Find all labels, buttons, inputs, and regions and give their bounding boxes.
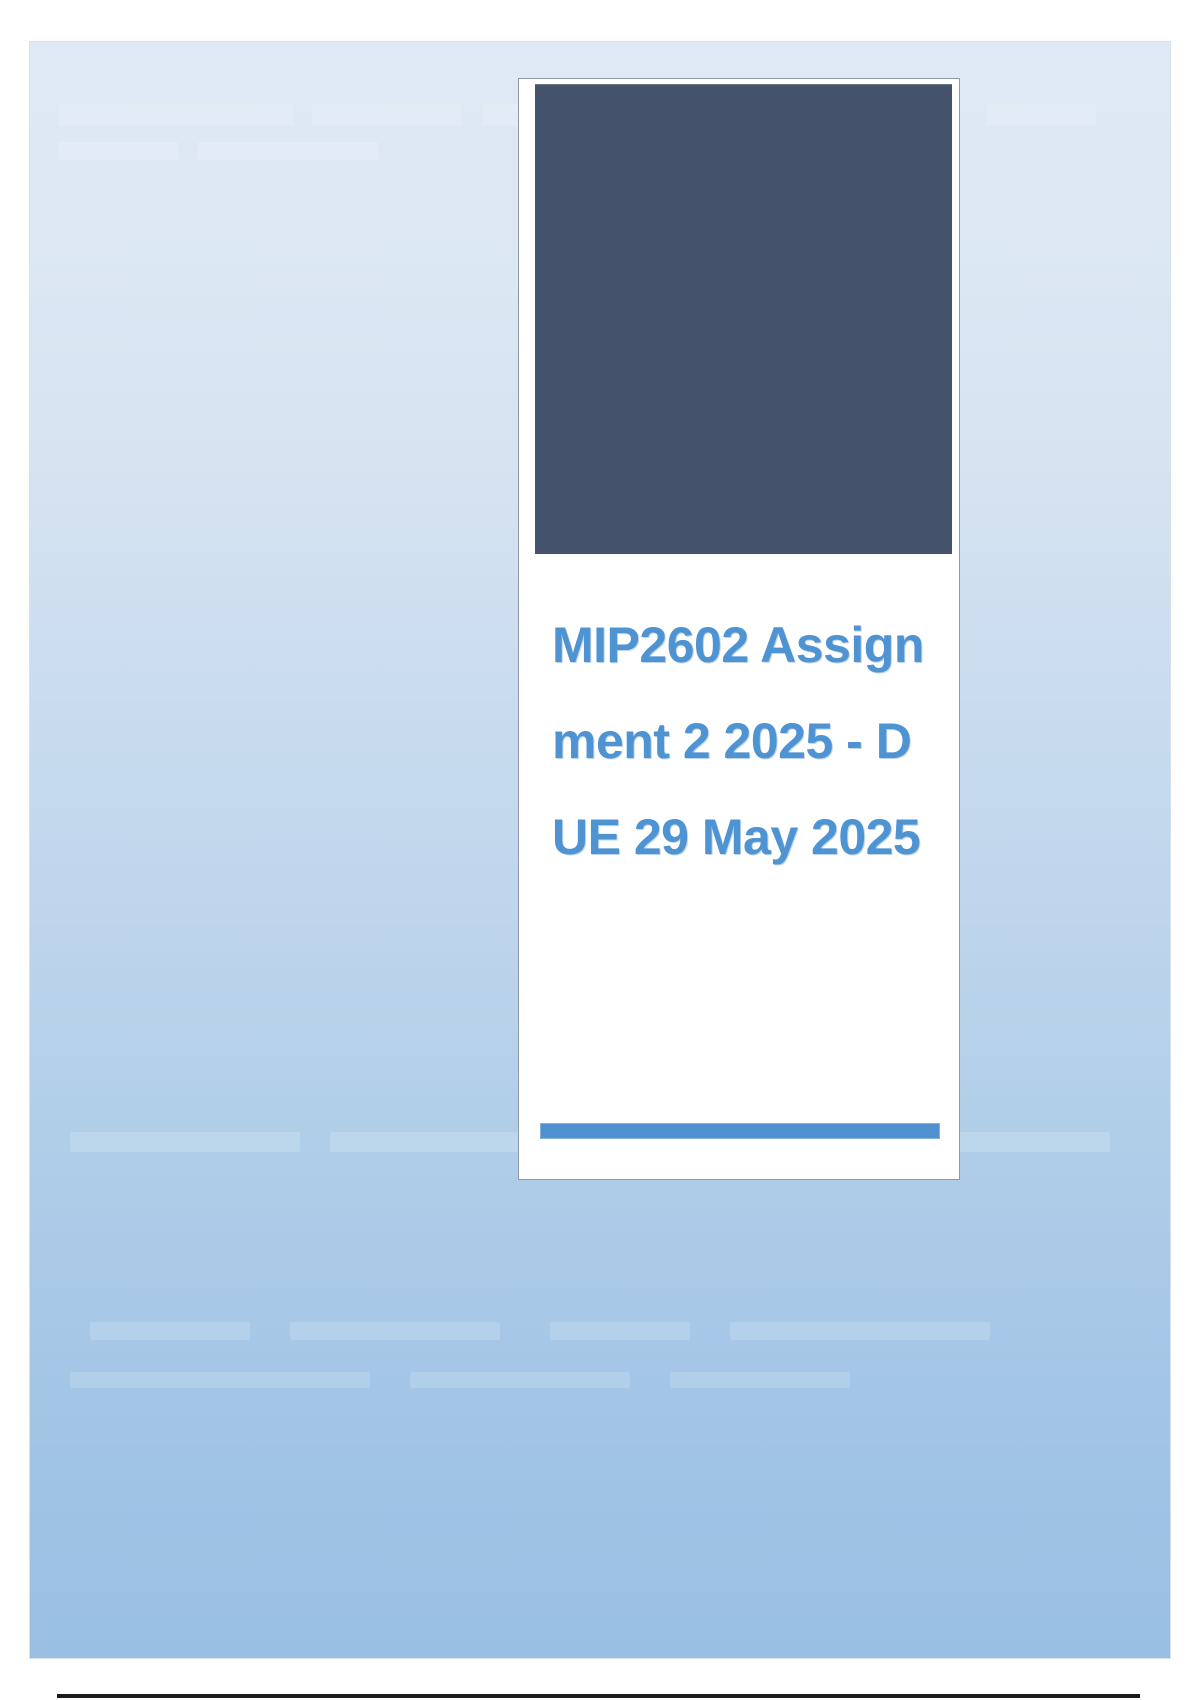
background-artifact xyxy=(290,1322,500,1340)
document-page-sheet: MIP2602 Assignment 2 2025 - DUE 29 May 2… xyxy=(30,42,1170,1658)
background-artifact xyxy=(410,1372,630,1388)
cover-title: MIP2602 Assignment 2 2025 - DUE 29 May 2… xyxy=(552,597,924,885)
cover-banner-image xyxy=(535,84,952,554)
background-artifact xyxy=(58,142,178,160)
background-artifact xyxy=(198,142,378,160)
background-artifact xyxy=(58,104,294,126)
cover-card: MIP2602 Assignment 2 2025 - DUE 29 May 2… xyxy=(518,78,960,1180)
background-artifact xyxy=(730,1322,990,1340)
background-artifact xyxy=(670,1372,850,1388)
background-artifact xyxy=(986,104,1096,126)
background-artifact xyxy=(312,104,462,126)
background-artifact xyxy=(70,1372,370,1388)
background-artifact xyxy=(90,1322,250,1340)
background-artifact xyxy=(550,1322,690,1340)
cover-accent-rule xyxy=(540,1123,940,1139)
page-bottom-separator xyxy=(57,1694,1140,1698)
background-artifact xyxy=(70,1132,300,1152)
